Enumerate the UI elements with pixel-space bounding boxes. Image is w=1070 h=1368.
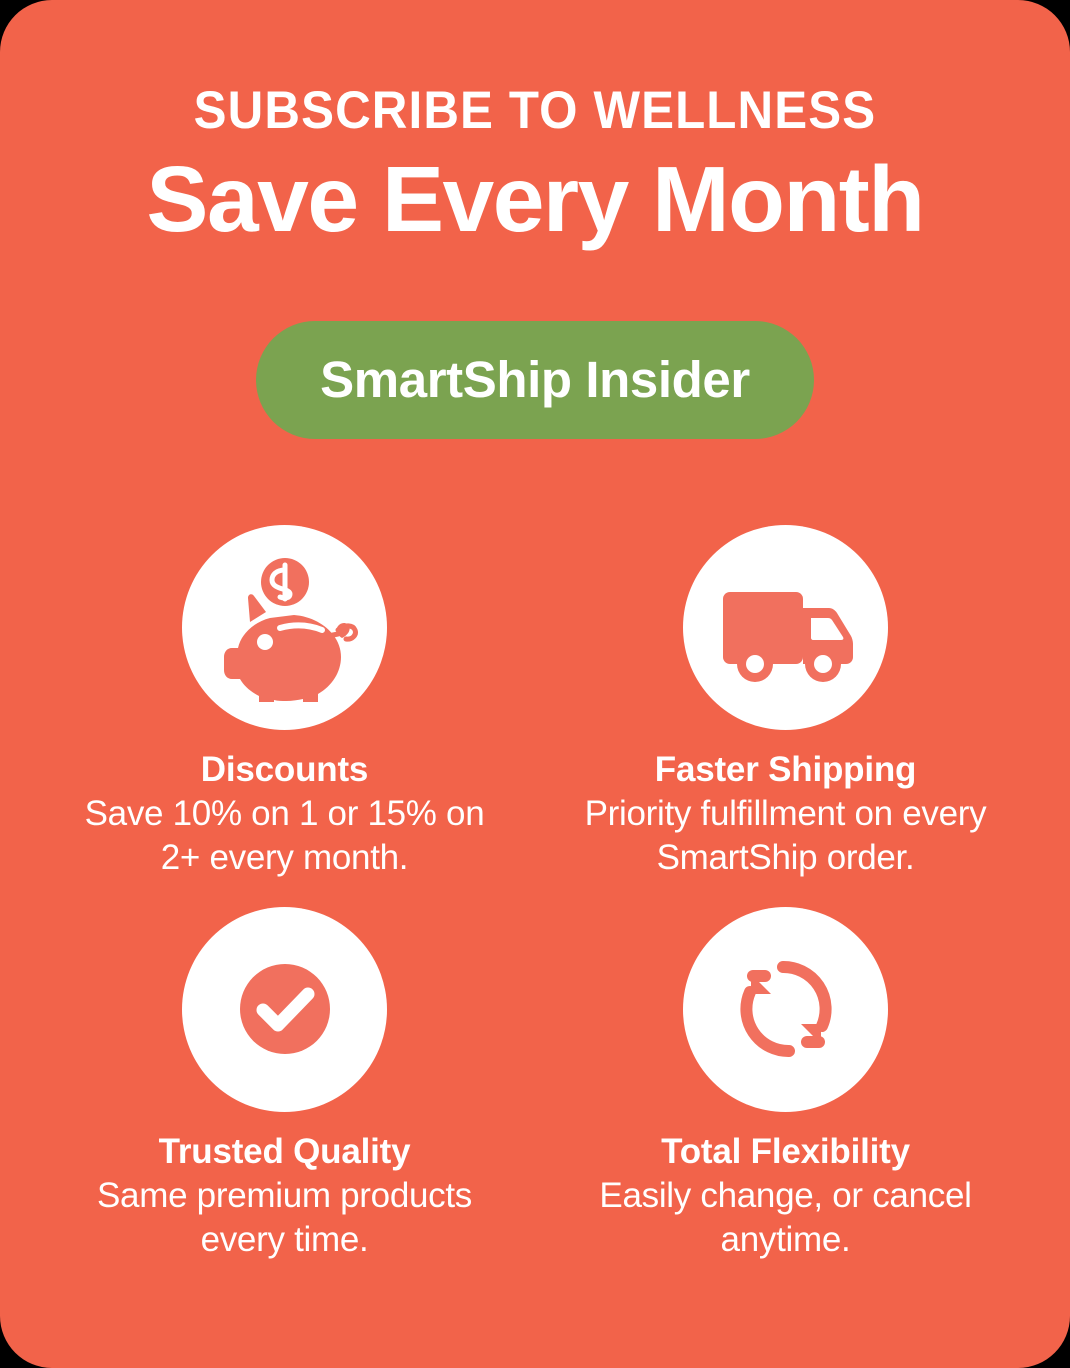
eyebrow-text: SUBSCRIBE TO WELLNESS (194, 84, 877, 137)
feature-title: Faster Shipping (655, 750, 916, 790)
feature-description: Easily change, or cancel anytime. (571, 1174, 1001, 1263)
feature-title: Discounts (201, 750, 368, 790)
check-circle-icon (182, 907, 387, 1112)
feature-item-discounts: Discounts Save 10% on 1 or 15% on 2+ eve… (34, 525, 535, 881)
feature-description: Save 10% on 1 or 15% on 2+ every month. (70, 792, 500, 881)
feature-item-trusted-quality: Trusted Quality Same premium products ev… (34, 907, 535, 1263)
feature-description: Same premium products every time. (70, 1174, 500, 1263)
page-title: Save Every Month (146, 151, 923, 249)
delivery-truck-icon (683, 525, 888, 730)
feature-item-total-flexibility: Total Flexibility Easily change, or canc… (535, 907, 1036, 1263)
feature-description: Priority fulfillment on every SmartShip … (571, 792, 1001, 881)
refresh-cycle-icon (683, 907, 888, 1112)
features-grid: Discounts Save 10% on 1 or 15% on 2+ eve… (0, 525, 1070, 1263)
piggy-bank-icon (182, 525, 387, 730)
feature-title: Trusted Quality (159, 1132, 411, 1172)
feature-title: Total Flexibility (661, 1132, 910, 1172)
feature-item-faster-shipping: Faster Shipping Priority fulfillment on … (535, 525, 1036, 881)
smartship-insider-button[interactable]: SmartShip Insider (256, 321, 814, 439)
subscription-promo-card: SUBSCRIBE TO WELLNESS Save Every Month S… (0, 0, 1070, 1368)
